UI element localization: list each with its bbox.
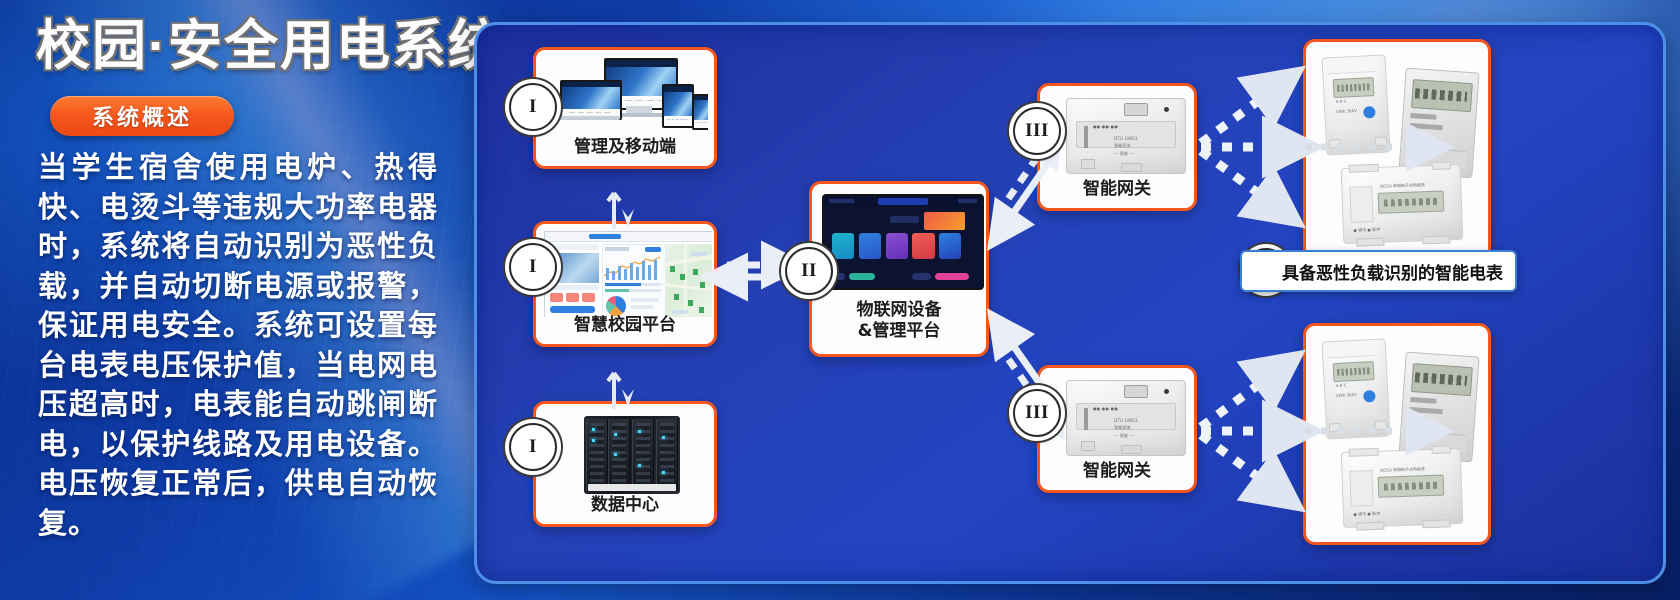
single-phase-meter-icon-b: A B C kWh 380V: [1321, 338, 1390, 439]
meter-panel-top[interactable]: A B C kWh 380V DDSU 单相电子式电能表 ● 通讯 ● 脉冲: [1303, 39, 1491, 261]
intro-column: 校园·安全用电系统 系统概述 当学生宿舍使用电炉、热得快、电烫斗等违规大功率电器…: [0, 0, 470, 600]
badge-roman-i-campus: I: [509, 243, 557, 291]
badge-roman-ii-iot: II: [785, 247, 833, 295]
node-data-center[interactable]: 数据中心: [533, 401, 717, 527]
poster-canvas: 校园·安全用电系统 系统概述 当学生宿舍使用电炉、热得快、电烫斗等违规大功率电器…: [0, 0, 1680, 600]
campus-map: [666, 244, 712, 317]
section-badge-label: 系统概述: [92, 100, 192, 132]
iot-platform-label-line1: 物联网设备: [812, 300, 986, 321]
monitor-stand: [626, 106, 652, 113]
smart-campus-illustration: [544, 231, 712, 317]
meter-callout[interactable]: 具备恶性负载识别的智能电表: [1240, 250, 1517, 292]
page-title: 校园·安全用电系统: [36, 14, 504, 78]
laptop-screen-icon: [560, 80, 622, 120]
badge-roman-i-admin: I: [509, 83, 557, 131]
meter-panel-bottom[interactable]: A B C kWh 380V DDSU 单相电子式电能表 ● 通讯 ● 脉冲: [1303, 323, 1491, 545]
node-smart-campus[interactable]: 智慧校园平台: [533, 221, 717, 347]
architecture-diagram-panel: IoT platform (horizontal dashed double) …: [474, 22, 1666, 584]
gateway-device-bottom-icon: ●● ●● ●● DTU GW01 智能网关 — 智能 —: [1066, 380, 1186, 456]
node-iot-platform[interactable]: 物联网设备 &管理平台: [809, 181, 989, 357]
node-data-center-label: 数据中心: [536, 495, 714, 516]
badge-roman-i-datacenter: I: [509, 423, 557, 471]
overview-paragraph: 当学生宿舍使用电炉、热得快、电烫斗等违规大功率电器时，系统将自动识别为恶性负载，…: [38, 148, 438, 543]
badge-roman-iii-gateway-top: III: [1013, 107, 1061, 155]
admin-mobile-illustration: [558, 58, 708, 134]
iot-platform-label-line2: &管理平台: [812, 321, 986, 342]
din-rail-meter-icon-b: DDSU 单相电子式电能表 ● 通讯 ● 脉冲: [1341, 448, 1464, 528]
din-rail-meter-icon-a: DDSU 单相电子式电能表 ● 通讯 ● 脉冲: [1341, 164, 1464, 244]
tablet-screen-icon: [662, 84, 694, 128]
meter-callout-label: 具备恶性负载识别的智能电表: [1282, 259, 1503, 284]
badge-roman-iii-gateway-bottom: III: [1013, 389, 1061, 437]
node-gateway-top-label: 智能网关: [1040, 179, 1194, 200]
node-admin-mobile[interactable]: 管理及移动端: [533, 47, 717, 169]
node-gateway-top[interactable]: ●● ●● ●● DTU GW01 智能网关 — 智能 — 智能网关: [1037, 83, 1197, 211]
arrow-campus-to-datacenter: [605, 363, 637, 409]
single-phase-meter-icon-a: A B C kWh 380V: [1321, 54, 1390, 155]
server-rack-icon: [584, 416, 680, 494]
gateway-device-top-icon: ●● ●● ●● DTU GW01 智能网关 — 智能 —: [1066, 98, 1186, 174]
node-gateway-bottom[interactable]: ●● ●● ●● DTU GW01 智能网关 — 智能 — 智能网关: [1037, 365, 1197, 493]
phone-screen-icon: [692, 94, 708, 130]
campus-dashboard-screenshot: [544, 231, 712, 317]
node-gateway-bottom-label: 智能网关: [1040, 461, 1194, 482]
section-badge: 系统概述: [50, 96, 234, 136]
arrow-admin-to-campus: [605, 183, 637, 229]
node-iot-platform-label: 物联网设备 &管理平台: [812, 300, 986, 342]
node-smart-campus-label: 智慧校园平台: [536, 315, 714, 336]
iot-dashboard-screenshot: [822, 194, 984, 290]
node-admin-mobile-label: 管理及移动端: [536, 137, 714, 158]
laptop-base: [558, 116, 620, 120]
